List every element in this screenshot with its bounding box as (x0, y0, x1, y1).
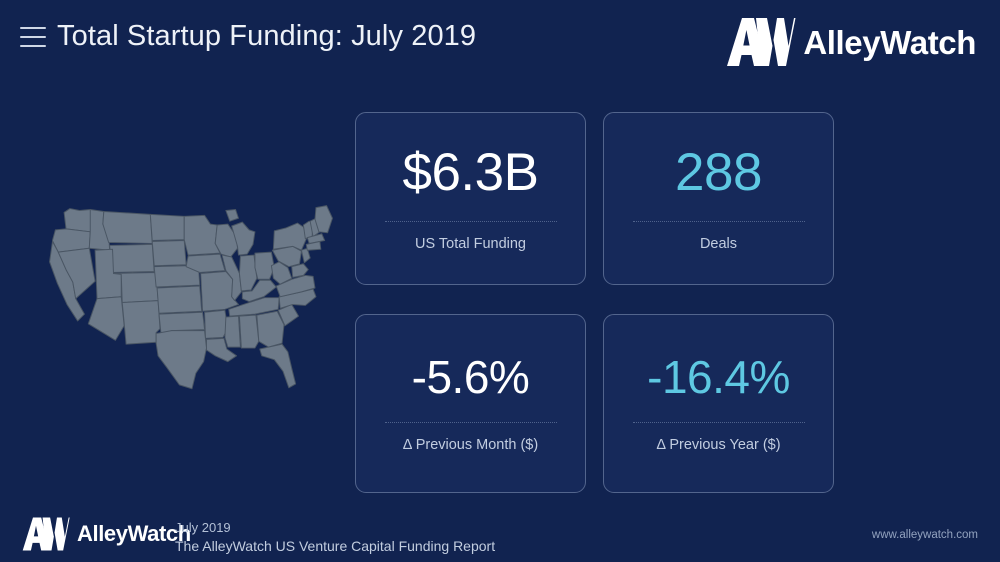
stat-card-delta-previous-month[interactable]: -5.6% Δ Previous Month ($) (355, 314, 586, 493)
stat-label: Δ Previous Year ($) (656, 437, 780, 453)
stat-value: -16.4% (647, 354, 790, 400)
slide-root: Total Startup Funding: July 2019 AlleyWa… (0, 0, 1000, 562)
footer-website-url[interactable]: www.alleywatch.com (872, 529, 978, 541)
aw-monogram-icon (22, 516, 70, 552)
footer-report-title: The AlleyWatch US Venture Capital Fundin… (175, 537, 495, 556)
hamburger-menu-icon[interactable] (20, 27, 46, 47)
stat-card-deals[interactable]: 288 Deals (603, 112, 834, 285)
card-divider (633, 422, 805, 423)
stat-label: Deals (700, 236, 737, 252)
alleywatch-wordmark: AlleyWatch (803, 26, 976, 59)
card-divider (385, 221, 557, 222)
us-states-map (36, 196, 346, 411)
stat-value: -5.6% (412, 354, 530, 400)
stat-label: Δ Previous Month ($) (403, 437, 538, 453)
menu-bar-3 (20, 45, 46, 47)
card-divider (385, 422, 557, 423)
page-title: Total Startup Funding: July 2019 (57, 20, 476, 53)
footer-report-info: July 2019 The AlleyWatch US Venture Capi… (175, 518, 495, 556)
alleywatch-logo-footer: AlleyWatch (22, 516, 191, 552)
stat-card-grid: $6.3B US Total Funding 288 Deals -5.6% Δ… (355, 112, 834, 493)
menu-bar-2 (20, 36, 46, 38)
aw-monogram-icon (726, 16, 796, 68)
card-divider (633, 221, 805, 222)
header: Total Startup Funding: July 2019 AlleyWa… (0, 0, 1000, 92)
footer-date: July 2019 (175, 518, 495, 537)
stat-value: $6.3B (402, 146, 538, 199)
stat-card-us-total-funding[interactable]: $6.3B US Total Funding (355, 112, 586, 285)
stat-card-delta-previous-year[interactable]: -16.4% Δ Previous Year ($) (603, 314, 834, 493)
stat-value: 288 (675, 146, 762, 199)
alleywatch-logo-header: AlleyWatch (726, 16, 976, 68)
alleywatch-wordmark: AlleyWatch (77, 523, 191, 545)
menu-bar-1 (20, 27, 46, 29)
stat-label: US Total Funding (415, 236, 526, 252)
